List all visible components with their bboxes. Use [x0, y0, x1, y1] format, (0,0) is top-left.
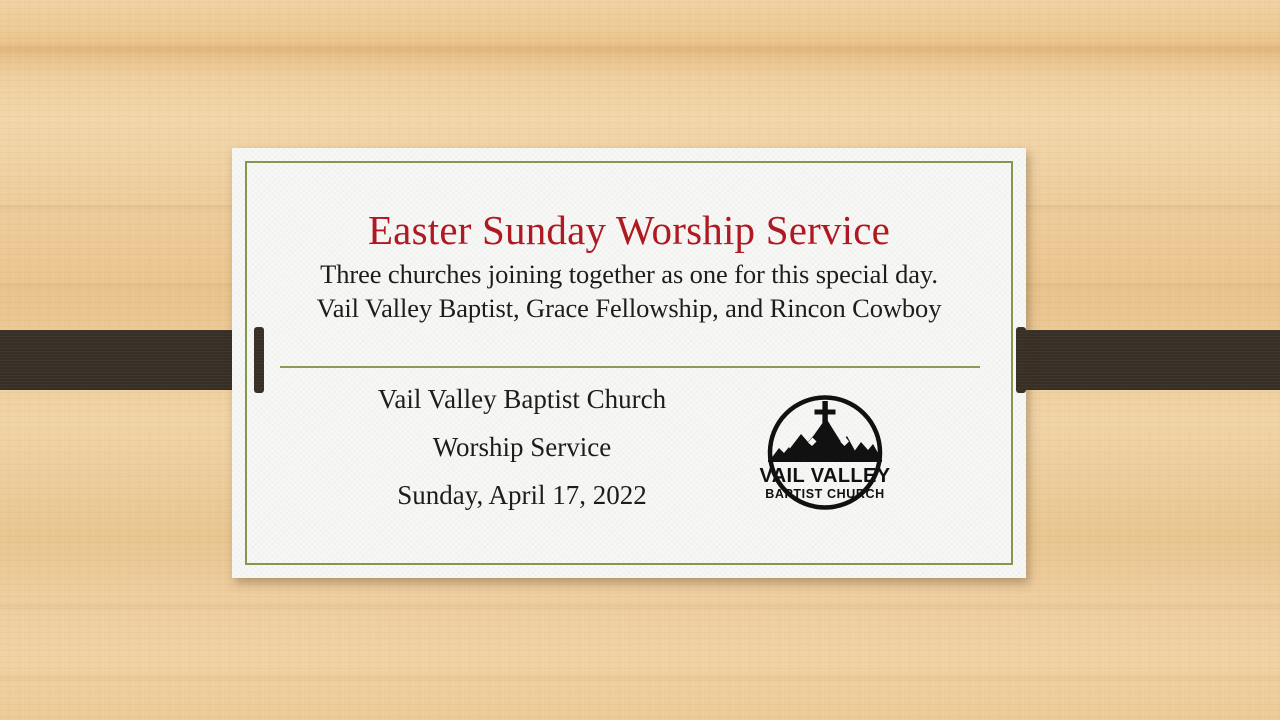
subtitle-line-2: Vail Valley Baptist, Grace Fellowship, a…	[232, 292, 1026, 326]
subtitle-line-1: Three churches joining together as one f…	[232, 258, 1026, 292]
presentation-slide: Easter Sunday Worship Service Three chur…	[0, 0, 1280, 720]
detail-service-date: Sunday, April 17, 2022	[282, 482, 762, 509]
slide-subtitle: Three churches joining together as one f…	[232, 258, 1026, 326]
horizontal-divider	[280, 366, 980, 368]
title-card: Easter Sunday Worship Service Three chur…	[232, 148, 1026, 578]
logo-secondary-text: BAPTIST CHURCH	[765, 487, 885, 501]
detail-church-name: Vail Valley Baptist Church	[282, 386, 762, 413]
card-content: Easter Sunday Worship Service Three chur…	[232, 148, 1026, 578]
strap-tab-right	[1016, 327, 1026, 393]
strap-band-right	[1022, 330, 1280, 390]
church-logo: VAIL VALLEY BAPTIST CHURCH	[748, 394, 902, 514]
slide-title: Easter Sunday Worship Service	[232, 209, 1026, 252]
logo-primary-text: VAIL VALLEY	[759, 465, 890, 487]
strap-band-left	[0, 330, 258, 390]
service-details: Vail Valley Baptist Church Worship Servi…	[282, 386, 762, 530]
detail-service-type: Worship Service	[282, 434, 762, 461]
church-logo-svg: VAIL VALLEY BAPTIST CHURCH	[748, 394, 902, 514]
strap-tab-left	[254, 327, 264, 393]
